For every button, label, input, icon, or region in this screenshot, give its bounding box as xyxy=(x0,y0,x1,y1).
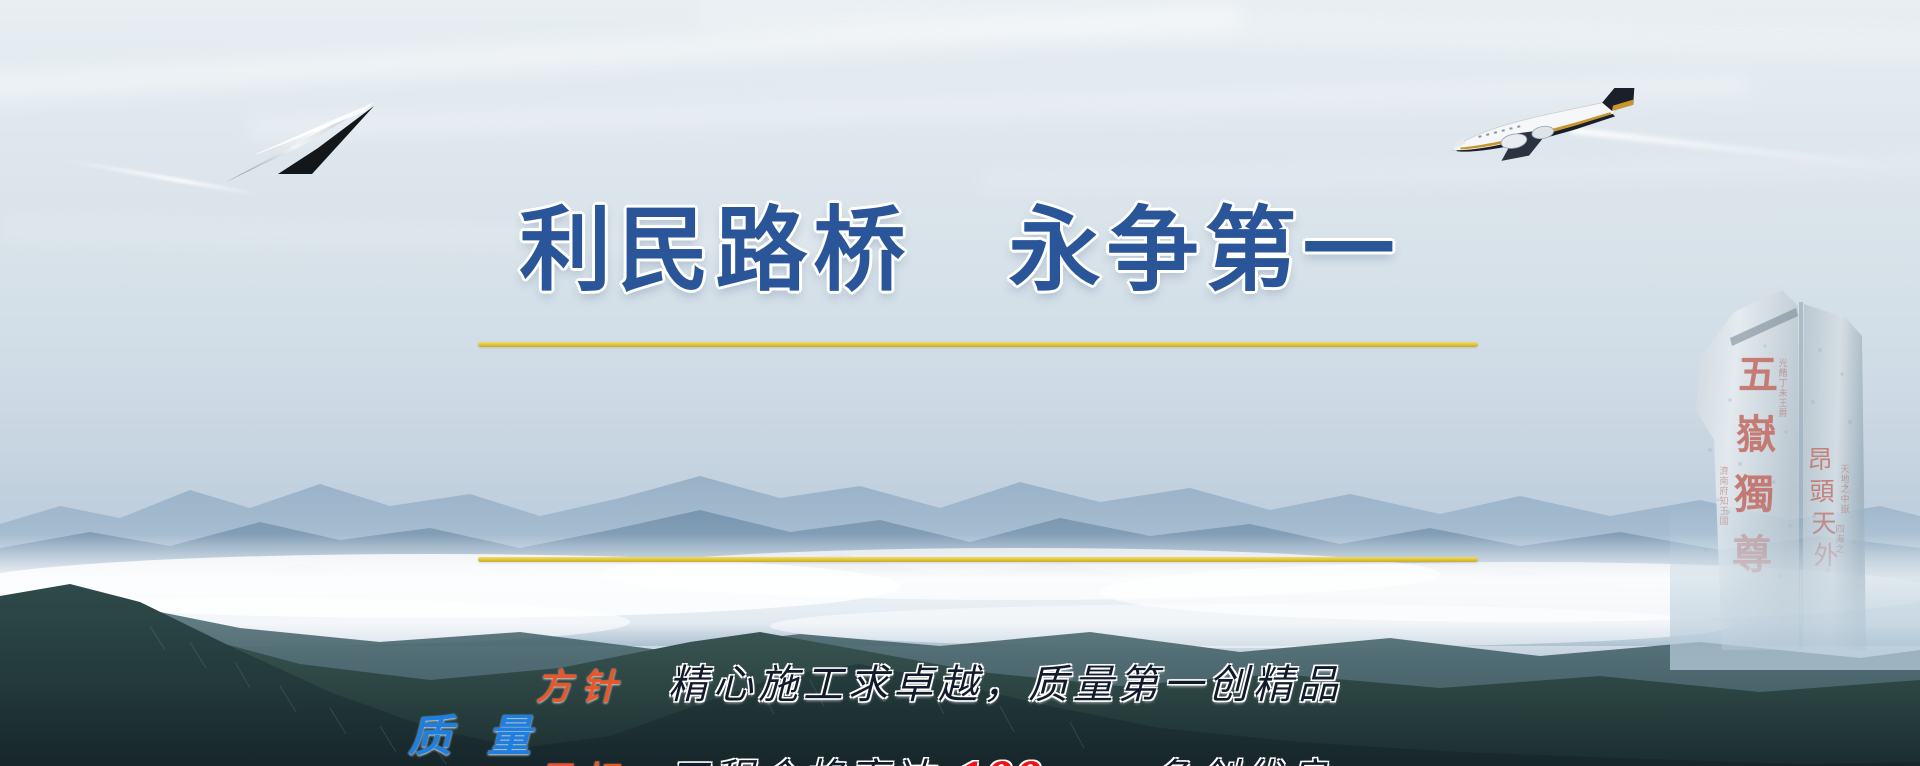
promo-banner: 五 嶽 獨 尊 昂 頭 天 外 光緒丁 未王爵 濟南府 知王國 天地之 中嶽 四… xyxy=(0,0,1920,766)
policy-label: 方针 xyxy=(536,658,626,710)
paper-plane-edge xyxy=(256,102,374,154)
headline-part-1: 利民路桥 xyxy=(519,200,911,302)
goal-slogan-prefix: 工程合格率达 xyxy=(668,756,938,766)
policy-slogan: 精心施工求卓越，质量第一创精品 xyxy=(668,652,1343,710)
jet-svg xyxy=(1438,88,1653,168)
quality-label: 质 量 xyxy=(408,700,543,764)
gold-divider-top xyxy=(478,342,1478,347)
jet-airplane-icon xyxy=(1438,88,1653,168)
paper-plane-icon xyxy=(214,96,384,186)
goal-label: 目标 xyxy=(536,751,626,766)
goal-slogan: 工程合格率达 100 % ，争创优良 xyxy=(668,746,1332,766)
goal-slogan-suffix: ，争创优良 xyxy=(1107,756,1332,766)
headline-part-2: 永争第一 xyxy=(1009,200,1401,302)
paper-plane-svg xyxy=(214,96,384,186)
completion-rate-value: 100 xyxy=(955,748,1042,766)
slogan-block: 质 量 方针 精心施工求卓越，质量第一创精品 目标 工程合格率达 100 % ，… xyxy=(0,352,1920,562)
page-title: 利民路桥 永争第一 xyxy=(0,176,1920,309)
cloud-puff xyxy=(770,604,1730,648)
